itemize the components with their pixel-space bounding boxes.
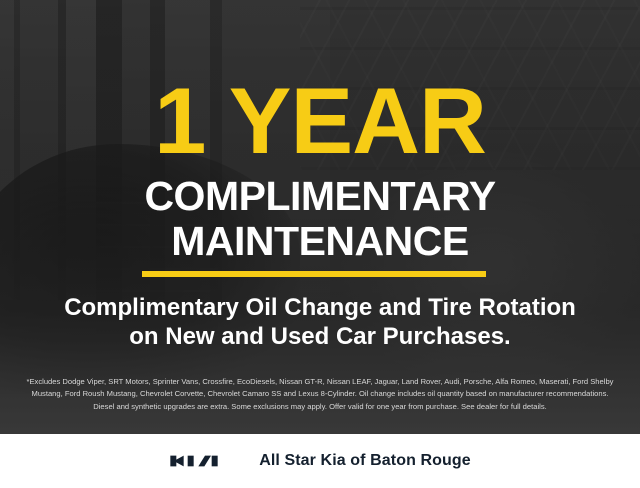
disclaimer-text: *Excludes Dodge Viper, SRT Motors, Sprin…: [12, 376, 628, 413]
disclaimer-line-1: *Excludes Dodge Viper, SRT Motors, Sprin…: [12, 376, 628, 388]
headline-maintenance: MAINTENANCE: [0, 221, 640, 262]
headline-complimentary: COMPLIMENTARY: [0, 176, 640, 217]
dealer-footer: All Star Kia of Baton Rouge: [0, 434, 640, 488]
dealer-name: All Star Kia of Baton Rouge: [259, 452, 471, 470]
kia-logo-icon: [169, 451, 241, 471]
disclaimer-line-2: Mustang, Ford Roush Mustang, Chevrolet C…: [12, 388, 628, 400]
headline-year: 1 YEAR: [0, 74, 640, 168]
offer-description-line-2: on New and Used Car Purchases.: [0, 322, 640, 352]
disclaimer-line-3: Diesel and synthetic upgrades are extra.…: [12, 401, 628, 413]
yellow-divider-rule: [142, 271, 486, 277]
offer-description-line-1: Complimentary Oil Change and Tire Rotati…: [0, 293, 640, 323]
promotional-banner: 1 YEAR COMPLIMENTARY MAINTENANCE Complim…: [0, 0, 640, 488]
banner-content: 1 YEAR COMPLIMENTARY MAINTENANCE Complim…: [0, 0, 640, 488]
